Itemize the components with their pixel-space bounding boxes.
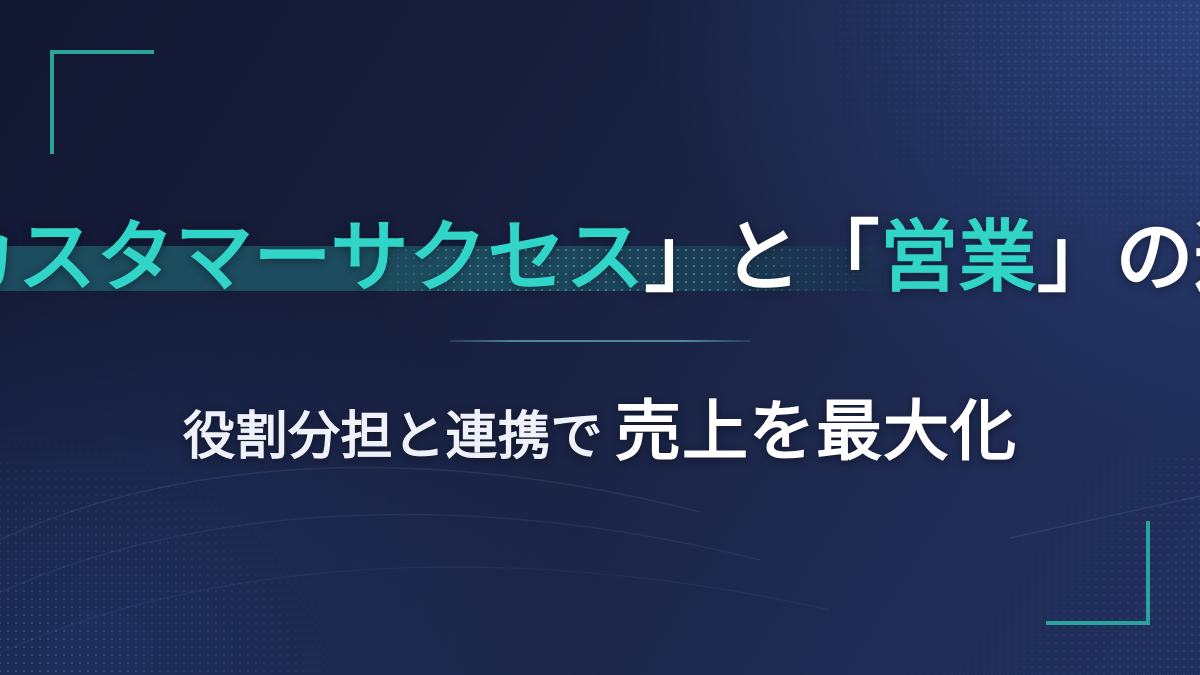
bracket-horizontal-bar (1046, 621, 1150, 625)
headline-accent-customer-success: カスタマーサクセス (0, 213, 644, 301)
bracket-vertical-bar (1146, 521, 1150, 625)
dot-texture-bottom-right (900, 455, 1200, 675)
dot-texture-bottom-left (0, 315, 500, 675)
subtitle-lead: 役割分担と連携で (183, 408, 603, 466)
corner-bracket-bottom-right-icon (1046, 521, 1150, 625)
headline-accent-sales: 営業 (880, 213, 1037, 301)
headline-tail: 」の違い (1037, 213, 1200, 301)
page-title: 「カスタマーサクセス」と「営業」の違い (0, 218, 1200, 296)
headline-connector: 」と「 (644, 213, 880, 301)
corner-bracket-top-left-icon (50, 50, 154, 154)
slide-canvas: 「カスタマーサクセス」と「営業」の違い 役割分担と連携で売上を最大化 (0, 0, 1200, 675)
section-divider (450, 340, 750, 342)
wave-lines-decoration (0, 0, 1200, 675)
headline-block: 「カスタマーサクセス」と「営業」の違い (0, 218, 1200, 318)
subtitle-block: 役割分担と連携で売上を最大化 (0, 378, 1200, 474)
bracket-vertical-bar (50, 50, 54, 154)
bracket-horizontal-bar (50, 50, 154, 54)
diagonal-line-decoration (0, 0, 1200, 675)
subtitle-emphasis: 売上を最大化 (615, 394, 1017, 468)
